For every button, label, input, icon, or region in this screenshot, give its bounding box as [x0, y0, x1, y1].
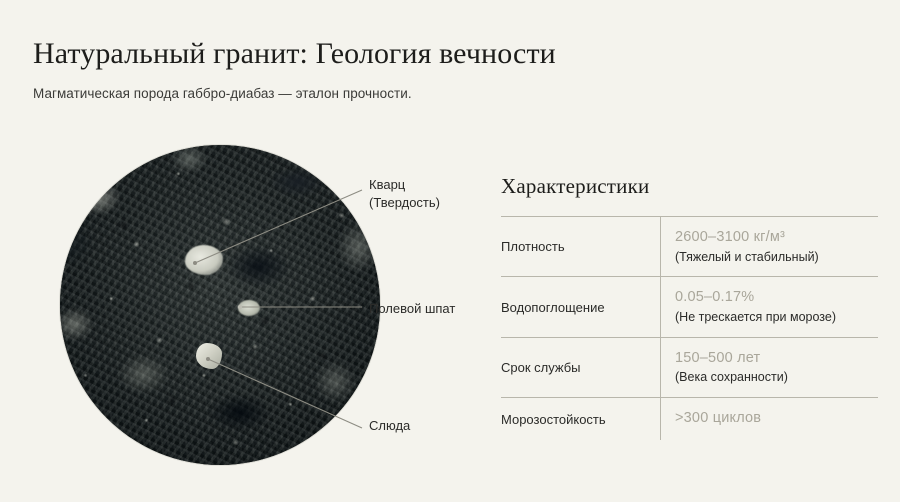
spec-value-service-life-note: (Века сохранности)	[675, 369, 878, 386]
callout-quartz-sublabel: (Твердость)	[369, 194, 440, 212]
slide-root: Натуральный гранит: Геология вечности Ма…	[0, 0, 900, 502]
spec-value-frost-resistance-main: >300 циклов	[675, 409, 878, 429]
spec-value-frost-resistance: >300 циклов	[661, 398, 879, 440]
specs-title: Характеристики	[501, 174, 863, 199]
spec-value-density: 2600–3100 кг/м³ (Тяжелый и стабильный)	[661, 217, 879, 277]
header: Натуральный гранит: Геология вечности Ма…	[33, 36, 733, 101]
callout-mica-label: Слюда	[369, 418, 410, 433]
spec-label-water-absorption: Водопоглощение	[501, 277, 661, 337]
spec-value-water-absorption-main: 0.05–0.17%	[675, 288, 878, 308]
specs-panel: Характеристики Плотность 2600–3100 кг/м³…	[501, 174, 863, 440]
spec-value-service-life: 150–500 лет (Века сохранности)	[661, 337, 879, 397]
page-subtitle: Магматическая порода габбро-диабаз — эта…	[33, 86, 733, 101]
leader-dot-quartz	[193, 261, 197, 265]
spec-label-service-life: Срок службы	[501, 337, 661, 397]
spec-value-density-note: (Тяжелый и стабильный)	[675, 249, 878, 266]
callout-feldspar: Полевой шпат	[369, 300, 455, 318]
spec-value-density-main: 2600–3100 кг/м³	[675, 228, 878, 248]
callout-quartz: Кварц (Твердость)	[369, 176, 440, 211]
spec-value-water-absorption-note: (Не трескается при морозе)	[675, 309, 878, 326]
table-row: Плотность 2600–3100 кг/м³ (Тяжелый и ста…	[501, 217, 878, 277]
spec-label-density: Плотность	[501, 217, 661, 277]
leader-line-quartz	[195, 190, 362, 263]
callout-mica: Слюда	[369, 417, 410, 435]
callout-leader-lines	[50, 145, 380, 470]
granite-figure	[50, 145, 380, 470]
callout-quartz-label: Кварц	[369, 177, 405, 192]
leader-dot-mica	[206, 357, 210, 361]
leader-line-mica	[208, 359, 362, 428]
page-title: Натуральный гранит: Геология вечности	[33, 36, 733, 72]
table-row: Морозостойкость >300 циклов	[501, 398, 878, 440]
callout-feldspar-label: Полевой шпат	[369, 301, 455, 316]
table-row: Срок службы 150–500 лет (Века сохранност…	[501, 337, 878, 397]
spec-label-frost-resistance: Морозостойкость	[501, 398, 661, 440]
specs-table: Плотность 2600–3100 кг/м³ (Тяжелый и ста…	[501, 216, 878, 440]
spec-value-service-life-main: 150–500 лет	[675, 349, 878, 369]
table-row: Водопоглощение 0.05–0.17% (Не трескается…	[501, 277, 878, 337]
leader-dot-feldspar	[238, 305, 242, 309]
spec-value-water-absorption: 0.05–0.17% (Не трескается при морозе)	[661, 277, 879, 337]
